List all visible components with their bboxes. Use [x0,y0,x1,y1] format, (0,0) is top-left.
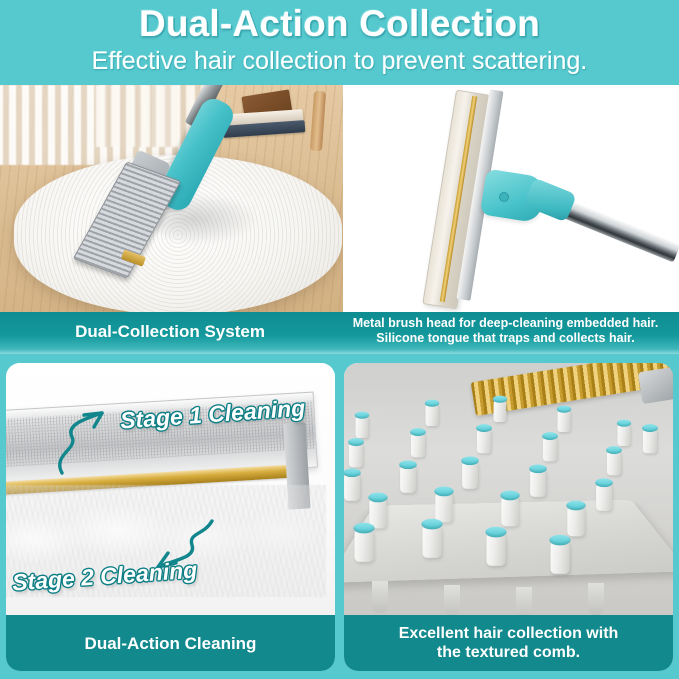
bottom-card-row: Stage 1 Cleaning Stage 2 Cleaning Dual-A… [0,354,679,679]
card-textured-comb: Excellent hair collection with the textu… [344,363,673,671]
plate-leg [588,583,604,615]
card-caption-dual-action-cleaning: Dual-Action Cleaning [6,615,335,671]
page-title: Dual-Action Collection [0,3,679,45]
comb-nub [596,481,612,510]
comb-nub [369,496,386,528]
comb-nub [543,435,557,461]
comb-nub [462,459,478,488]
caption-feature-description: Metal brush head for deep-cleaning embed… [332,316,679,346]
comb-nub [411,431,425,457]
comb-nub [607,449,621,475]
comb-nub [618,422,631,446]
comb-nub [530,467,546,496]
comb-nub [423,522,442,557]
top-image-row [0,85,679,312]
comb-nub [487,530,506,565]
plate-leg [372,581,388,613]
page-subtitle: Effective hair collection to prevent sca… [0,47,679,76]
comb-nub [356,414,369,438]
comb-nub [426,402,439,426]
squeegee-chrome-pole [556,198,679,263]
plate-leg [444,585,460,615]
comb-nub [643,427,657,453]
comb-nub [349,441,363,467]
comb-nub [558,408,571,432]
infographic-root: Dual-Action Collection Effective hair co… [0,0,679,679]
comb-nub [494,398,507,422]
photo-textured-comb [344,363,673,615]
photo-rug-cleaning [0,85,343,312]
plate-leg [516,587,532,615]
photo-hair-pile: Stage 1 Cleaning Stage 2 Cleaning [6,363,335,615]
comb-nub [355,526,374,561]
mid-caption-bar: Dual-Collection System Metal brush head … [0,312,679,354]
caption-feature-line-1: Metal brush head for deep-cleaning embed… [332,316,679,331]
comb-nub [435,490,452,522]
comb-nub [567,504,584,536]
comb-nub [551,538,570,573]
card-caption-line-2: the textured comb. [399,643,619,662]
caption-dual-collection-system: Dual-Collection System [0,322,340,342]
brush-end-cap [638,366,673,404]
card-caption-textured-comb: Excellent hair collection with the textu… [344,615,673,671]
comb-nub [344,471,360,500]
squeegee-pivot-screw [499,192,509,202]
header-banner: Dual-Action Collection Effective hair co… [0,0,679,85]
comb-nub [501,494,518,526]
plate-legs [360,579,660,615]
card-caption-line-1: Excellent hair collection with [399,624,619,643]
comb-nub [477,427,491,453]
caption-feature-line-2: Silicone tongue that traps and collects … [332,331,679,346]
card-dual-action-cleaning: Stage 1 Cleaning Stage 2 Cleaning Dual-A… [6,363,335,671]
comb-nub [400,463,416,492]
photo-product-squeegee [347,85,679,312]
